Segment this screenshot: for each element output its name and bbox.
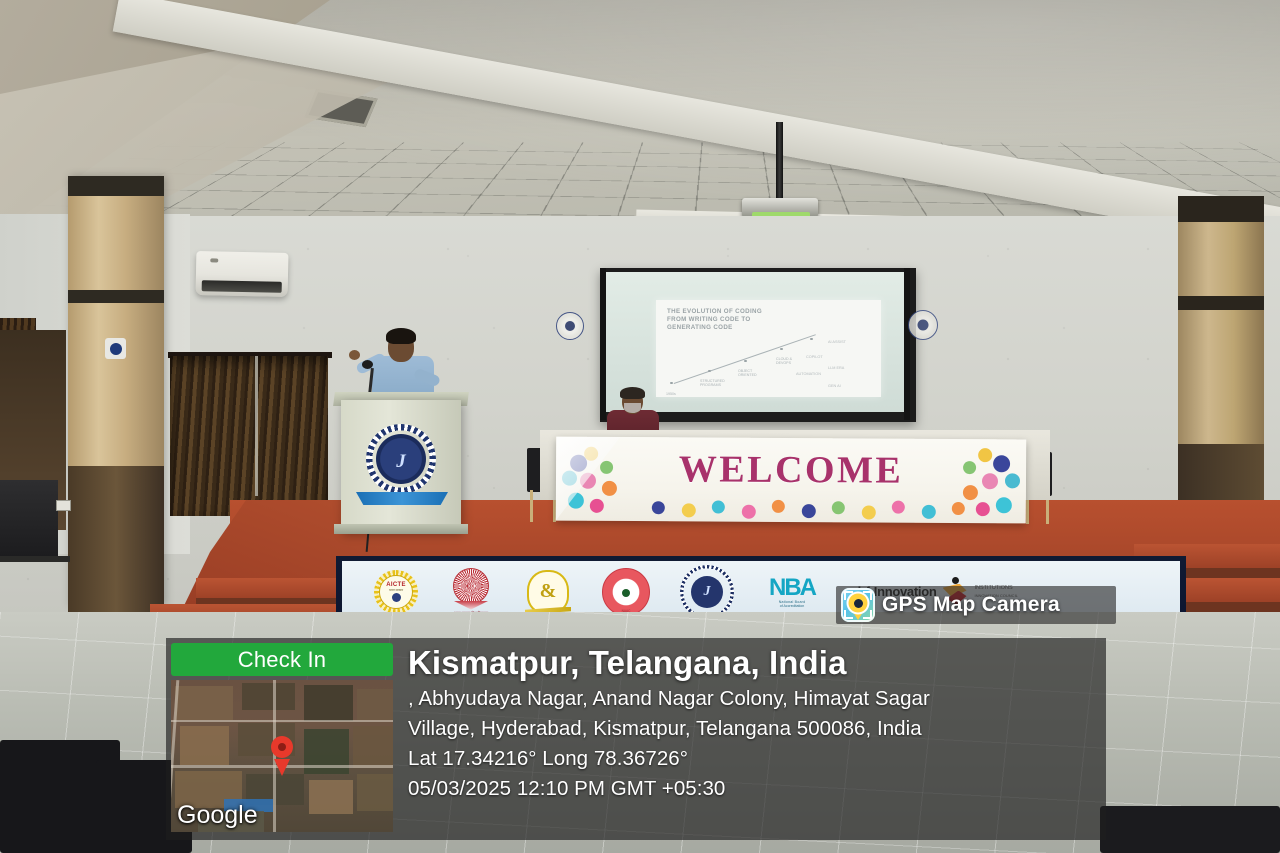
- address-line-1: , Abhyudaya Nagar, Anand Nagar Colony, H…: [408, 684, 1106, 714]
- location-title: Kismatpur, Telangana, India: [408, 642, 1106, 684]
- banner-flower: [952, 502, 965, 515]
- slide-title-line-1: THE EVOLUTION OF CODING: [667, 308, 807, 316]
- slide-title: THE EVOLUTION OF CODING FROM WRITING COD…: [667, 308, 807, 333]
- map-thumbnail[interactable]: Google: [171, 680, 393, 832]
- gps-camera-icon: [841, 588, 875, 622]
- coordinates: Lat 17.34216° Long 78.36726°: [408, 744, 1106, 774]
- projector-mount-rod: [776, 122, 783, 200]
- air-conditioner-unit: [196, 251, 289, 297]
- slide-timeline-chart: 1950s ASSEMBLY LANGUAGE STRUCTURED PROGR…: [664, 334, 824, 392]
- institute-wall-emblem-left: [556, 312, 584, 340]
- slide-point: [810, 338, 813, 341]
- gps-overlay-text-column: Kismatpur, Telangana, India , Abhyudaya …: [398, 638, 1106, 840]
- address-line-2: Village, Hyderabad, Kismatpur, Telangana…: [408, 714, 1106, 744]
- window-curtain: [170, 356, 328, 516]
- screen-border-right: [904, 268, 910, 420]
- banner-flower: [712, 501, 725, 514]
- podium-institute-logo: J: [366, 424, 436, 494]
- pillar-base-panel: [68, 466, 164, 616]
- map-parcel: [180, 726, 229, 766]
- slide-point: [708, 370, 711, 373]
- institute-emblem-icon: J: [680, 565, 734, 619]
- gps-info-overlay: Check In: [166, 638, 1106, 840]
- banner-flower: [600, 461, 613, 474]
- speaker-hand: [349, 350, 360, 360]
- banner-flower: [832, 501, 845, 514]
- naac-logo-icon: NAAC: [602, 568, 650, 616]
- map-parcel: [242, 683, 295, 710]
- google-attribution: Google: [177, 801, 258, 830]
- logo-monogram: J: [366, 451, 436, 473]
- podium-logo-ribbon: [356, 492, 448, 505]
- location-pin-icon: [271, 736, 293, 758]
- slide-note: COPILOT: [806, 355, 823, 359]
- map-pin-tail: [274, 759, 290, 776]
- banner-flower: [590, 499, 604, 513]
- pillar-logo-sticker: [105, 338, 126, 359]
- ugc-logo-icon: भारत सरकार विश्वविद्यालय: [448, 568, 494, 616]
- curtain-gap: [255, 356, 258, 496]
- slide-point-label: STRUCTURED PROGRAMS: [700, 379, 730, 388]
- gps-overlay-left-column: Check In: [166, 638, 398, 840]
- banner-flower: [963, 485, 978, 500]
- slide-title-line-2: FROM WRITING CODE TO: [667, 316, 807, 324]
- slide-point-label: OBJECT ORIENTED: [738, 369, 768, 378]
- nba-logo-icon: NBA National Board of Accreditation: [764, 576, 820, 608]
- map-parcel: [309, 780, 353, 813]
- banner-flower: [892, 501, 905, 514]
- map-parcel: [357, 774, 393, 810]
- pillar-band-mid: [68, 290, 164, 303]
- banner-flower: [802, 504, 816, 518]
- map-parcel: [175, 686, 233, 719]
- av-equipment-cabinet: [0, 480, 58, 562]
- banner-flower: [742, 505, 756, 519]
- ac-indicator: [210, 258, 218, 262]
- timestamp: 05/03/2025 12:10 PM GMT +05:30: [408, 774, 1106, 804]
- seated-person-beard: [624, 403, 641, 413]
- gps-map-camera-watermark: GPS Map Camera: [836, 586, 1116, 624]
- pillar-band-top: [68, 176, 164, 196]
- av-table: [0, 556, 70, 562]
- ac-vent: [202, 280, 282, 293]
- chair-leg: [530, 490, 533, 522]
- watermark-app-name: GPS Map Camera: [882, 593, 1060, 617]
- slide-point-label: CLOUD & DEVOPS: [776, 357, 806, 366]
- foreground-chair: [1100, 806, 1280, 853]
- presentation-slide: THE EVOLUTION OF CODING FROM WRITING COD…: [656, 300, 881, 397]
- map-parcel: [304, 685, 353, 721]
- slide-title-line-3: GENERATING CODE: [667, 324, 807, 332]
- banner-flower: [602, 481, 617, 496]
- slide-note: GEN AI: [828, 384, 841, 388]
- welcome-banner-text: WELCOME: [556, 447, 1026, 494]
- slide-note: AI ASSIST: [828, 340, 846, 344]
- aicte-logo-icon: AICTE भारत सरकार: [374, 570, 418, 614]
- map-parcel: [353, 726, 393, 769]
- check-in-button[interactable]: Check In: [171, 643, 393, 676]
- pin-head: [849, 593, 868, 612]
- seated-person-hair: [620, 387, 645, 399]
- speaker-hair: [386, 328, 416, 344]
- microphone-head-icon: [362, 360, 373, 369]
- banner-flower: [976, 502, 990, 516]
- pillar-right-band-mid: [1178, 296, 1264, 310]
- map-road: [171, 720, 393, 722]
- map-parcel: [357, 689, 393, 719]
- slide-note: LLM ERA: [828, 366, 844, 370]
- banner-flower: [862, 505, 876, 519]
- banner-flower: [652, 501, 665, 514]
- banner-flower: [682, 503, 696, 517]
- slide-note: AUTOMATION: [796, 372, 821, 376]
- banner-flower: [982, 473, 998, 489]
- screen-border-left: [600, 268, 606, 420]
- sticker-emblem-icon: [110, 343, 122, 355]
- banner-flower: [978, 448, 992, 462]
- slide-point: [780, 348, 783, 351]
- podium-base: [334, 524, 468, 534]
- banner-flower: [922, 505, 936, 519]
- institute-wall-emblem-right: [908, 310, 938, 340]
- wall-power-socket: [56, 500, 71, 511]
- welcome-banner: WELCOME: [556, 437, 1027, 524]
- slide-point: [670, 382, 673, 385]
- banner-flower: [963, 461, 976, 474]
- photograph: THE EVOLUTION OF CODING FROM WRITING COD…: [0, 0, 1280, 853]
- iste-logo-icon: &: [524, 568, 572, 616]
- pillar-left: [68, 176, 164, 606]
- slide-point: [744, 360, 747, 363]
- pillar-right-band-top: [1178, 196, 1264, 222]
- banner-flower: [772, 500, 785, 513]
- slide-point-label: 1950s ASSEMBLY LANGUAGE: [666, 392, 696, 397]
- banner-flower: [996, 497, 1012, 513]
- banner-flower: [1005, 473, 1020, 488]
- banner-flower: [993, 455, 1010, 472]
